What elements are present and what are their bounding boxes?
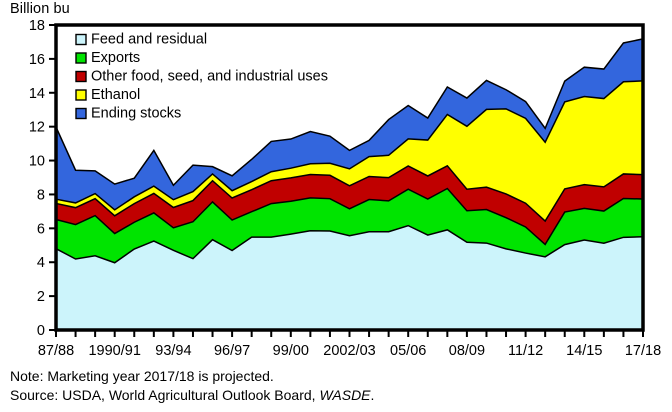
legend-swatch <box>76 53 86 63</box>
source-suffix: . <box>371 387 375 403</box>
legend-swatch <box>76 35 86 45</box>
note-text: Note: Marketing year 2017/18 is projecte… <box>10 368 274 384</box>
legend-label: Exports <box>91 50 140 66</box>
legend-label: Ethanol <box>91 87 140 103</box>
legend-swatch <box>76 90 86 100</box>
y-tick-label: 8 <box>37 187 45 203</box>
y-tick-label: 12 <box>29 120 45 136</box>
y-tick-label: 16 <box>29 52 45 68</box>
y-tick-label: 4 <box>37 255 45 271</box>
source-prefix: Source: USDA, World Agricultural Outlook… <box>10 387 319 403</box>
source-text: Source: USDA, World Agricultural Outlook… <box>10 387 374 403</box>
y-tick-label: 0 <box>37 323 45 339</box>
x-tick-label: 17/18 <box>625 343 661 359</box>
legend-label: Other food, seed, and industrial uses <box>91 69 328 85</box>
source-publication: WASDE <box>319 387 370 403</box>
corn-use-stacked-area-chart: Billion bu 024681012141618 87/881990/919… <box>0 0 672 412</box>
x-tick-label: 96/97 <box>214 343 250 359</box>
x-tick-label: 1990/91 <box>88 343 140 359</box>
chart-plot-svg: 024681012141618 87/881990/9193/9496/9799… <box>0 0 672 360</box>
chart-legend: Feed and residualExportsOther food, seed… <box>76 32 328 122</box>
x-tick-label: 14/15 <box>566 343 602 359</box>
legend-swatch <box>76 109 86 119</box>
legend-item: Other food, seed, and industrial uses <box>76 69 328 85</box>
y-tick-label: 14 <box>29 86 45 102</box>
x-tick-label: 11/12 <box>508 343 543 359</box>
legend-item: Ending stocks <box>76 106 181 122</box>
legend-item: Feed and residual <box>76 32 207 48</box>
x-tick-label: 08/09 <box>449 343 485 359</box>
x-tick-label: 05/06 <box>390 343 426 359</box>
y-tick-label: 6 <box>37 221 45 237</box>
x-axis-ticks: 87/881990/9193/9496/9799/002002/0305/060… <box>38 330 661 359</box>
legend-swatch <box>76 72 86 82</box>
x-tick-label: 87/88 <box>38 343 74 359</box>
y-tick-label: 10 <box>29 154 45 170</box>
y-tick-label: 2 <box>37 289 45 305</box>
x-tick-label: 99/00 <box>273 343 309 359</box>
legend-label: Feed and residual <box>91 32 207 48</box>
y-tick-label: 18 <box>29 18 45 34</box>
y-axis-ticks: 024681012141618 <box>29 18 56 339</box>
x-tick-label: 93/94 <box>155 343 191 359</box>
x-tick-label: 2002/03 <box>323 343 375 359</box>
legend-label: Ending stocks <box>91 106 181 122</box>
legend-item: Ethanol <box>76 87 140 103</box>
legend-item: Exports <box>76 50 140 66</box>
